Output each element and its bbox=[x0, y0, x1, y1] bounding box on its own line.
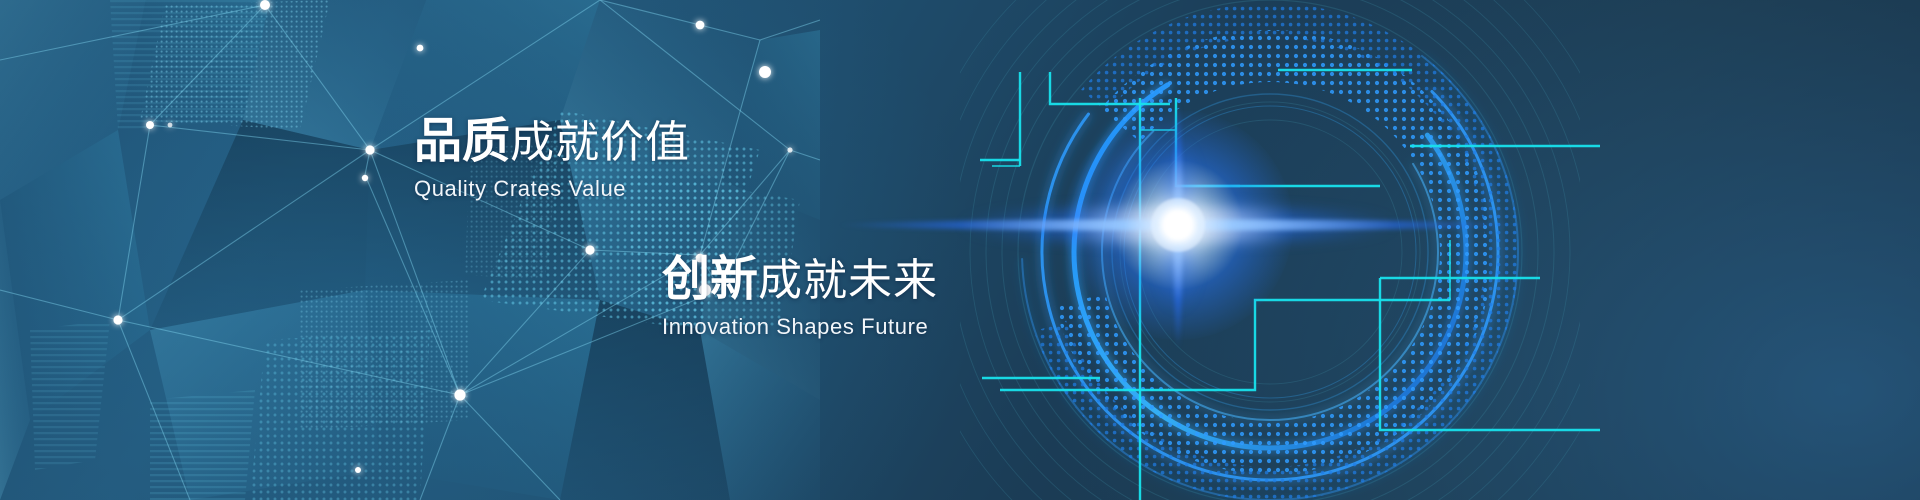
slogan-quality-chinese-strong: 品质 bbox=[414, 115, 510, 168]
hero-banner: 品质成就价值 Quality Crates Value 创新成就未来 Innov… bbox=[0, 0, 1920, 500]
slogan-innovation-chinese: 创新成就未来 bbox=[662, 256, 938, 304]
slogan-innovation-chinese-rest: 成就未来 bbox=[758, 256, 938, 305]
slogan-quality-chinese: 品质成就价值 bbox=[414, 118, 690, 166]
circuit-paths bbox=[980, 70, 1600, 500]
circuit-paths-thin bbox=[992, 130, 1450, 300]
slogan-innovation-english: Innovation Shapes Future bbox=[662, 316, 938, 338]
slogan-block-quality: 品质成就价值 Quality Crates Value bbox=[414, 118, 690, 200]
slogan-innovation-chinese-strong: 创新 bbox=[662, 253, 758, 306]
slogan-block-innovation: 创新成就未来 Innovation Shapes Future bbox=[662, 256, 938, 338]
slogan-quality-english: Quality Crates Value bbox=[414, 178, 690, 200]
circuit-lines-graphic bbox=[980, 0, 1600, 500]
low-poly-network-graphic bbox=[0, 0, 820, 500]
slogan-quality-chinese-rest: 成就价值 bbox=[510, 118, 690, 167]
